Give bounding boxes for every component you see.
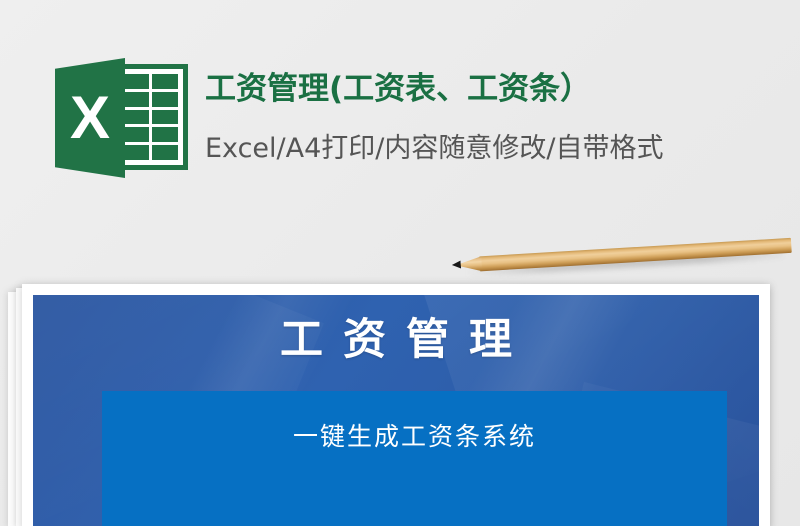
preview-banner: 工资管理 一键生成工资条系统: [33, 295, 759, 526]
header-text-block: 工资管理(工资表、工资条） Excel/A4打印/内容随意修改/自带格式: [205, 66, 785, 172]
excel-logo-grid: [122, 74, 178, 160]
header-section: X 工资管理(工资表、工资条） Excel/A4打印/内容随意修改/自带格式: [0, 0, 800, 240]
page-subtitle: Excel/A4打印/内容随意修改/自带格式: [205, 126, 785, 172]
banner-inner-panel-text: 一键生成工资条系统: [102, 419, 727, 455]
page-root: X 工资管理(工资表、工资条） Excel/A4打印/内容随意修改/自带格式 工…: [0, 0, 800, 526]
excel-logo-letter: X: [55, 58, 125, 178]
excel-logo-icon: X: [55, 58, 190, 178]
banner-title: 工资管理: [33, 311, 759, 369]
page-title: 工资管理(工资表、工资条）: [205, 66, 785, 112]
preview-card-stack: 工资管理 一键生成工资条系统: [0, 284, 800, 526]
banner-inner-panel: 一键生成工资条系统: [102, 391, 727, 526]
pencil-tip: [452, 260, 461, 269]
preview-card[interactable]: 工资管理 一键生成工资条系统: [22, 284, 770, 526]
